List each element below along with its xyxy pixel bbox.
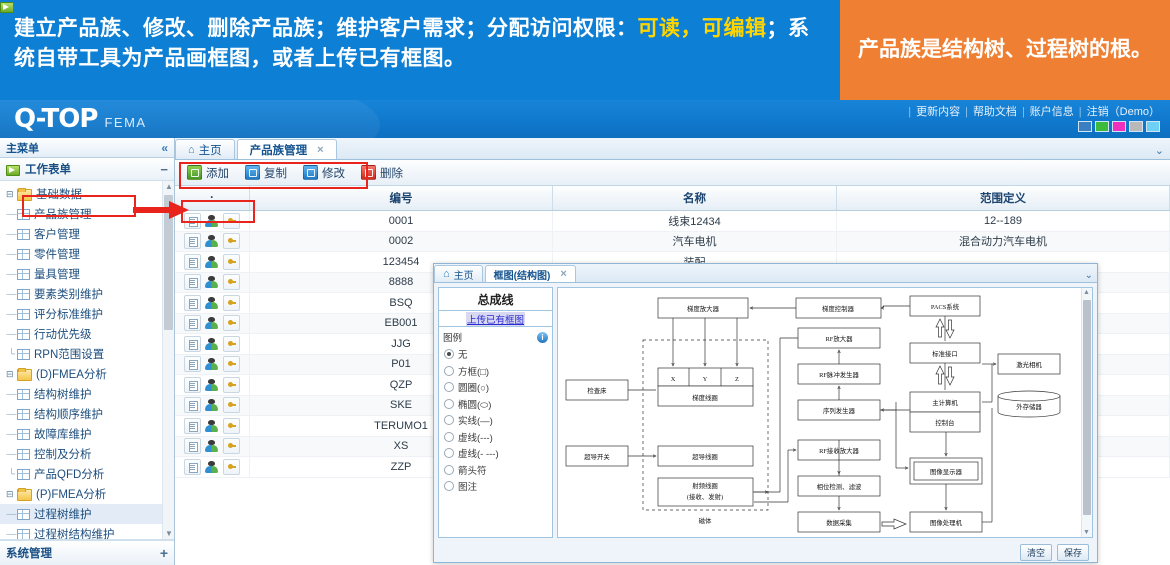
grid-icon: [17, 389, 30, 400]
sidebar-group-label: 工作表单: [25, 161, 71, 177]
user-icon[interactable]: [204, 316, 219, 330]
row-actions: [175, 416, 250, 437]
key-icon[interactable]: [223, 459, 240, 475]
legend-option-label: 椭圆(⬭): [458, 397, 491, 411]
key-icon[interactable]: [223, 274, 240, 290]
column-header-actions[interactable]: ·: [175, 186, 250, 211]
sidebar-folder-pfmea[interactable]: ⊟ (P)FMEA分析: [0, 484, 174, 504]
sidebar-item-label: 行动优先级: [34, 326, 92, 342]
grid-icon: [17, 229, 30, 240]
row-actions: [175, 272, 250, 293]
sidebar-item-label: (D)FMEA分析: [36, 366, 107, 382]
sidebar-title-bar: 主菜单 «: [0, 138, 174, 158]
svg-text:梯度线圈: 梯度线圈: [692, 393, 718, 402]
sidebar-item-label: 过程树维护: [34, 506, 92, 522]
legend-option-none[interactable]: 无: [444, 346, 552, 363]
theme-swatch-blue[interactable]: [1078, 121, 1092, 132]
radio-icon[interactable]: [444, 415, 454, 425]
radio-icon[interactable]: [444, 432, 454, 442]
sidebar-item-label: 过程树结构维护: [34, 526, 115, 540]
grid-icon: [17, 449, 30, 460]
sidebar-item-rpn-range[interactable]: └ RPN范围设置: [0, 344, 174, 364]
key-icon[interactable]: [223, 336, 240, 352]
app-logo: Q-TOP FEMA: [14, 104, 147, 134]
key-icon[interactable]: [223, 397, 240, 413]
legend-option-label: 虚线(- ---): [458, 446, 499, 460]
edit-button[interactable]: 修改: [297, 163, 351, 183]
svg-text:控制台: 控制台: [935, 418, 954, 427]
svg-text:X: X: [671, 376, 676, 383]
delete-label: 删除: [380, 165, 403, 181]
svg-text:图像显示器: 图像显示器: [930, 467, 963, 476]
sidebar-item-label: RPN范围设置: [34, 346, 104, 362]
sidebar-item-label: 故障库维护: [34, 426, 92, 442]
sidebar-item-action-priority[interactable]: — 行动优先级: [0, 324, 174, 344]
cell-name: 汽车电机: [553, 231, 837, 252]
expand-toggle-icon[interactable]: ⊟: [6, 369, 17, 380]
sidebar-item-product-family[interactable]: — 产品族管理: [0, 204, 174, 224]
user-icon[interactable]: [204, 234, 219, 248]
grid-icon: [17, 349, 30, 360]
svg-text:数据采集: 数据采集: [826, 518, 852, 527]
sidebar-folder-dfmea[interactable]: ⊟ (D)FMEA分析: [0, 364, 174, 384]
chevron-down-icon[interactable]: ⌄: [1155, 144, 1164, 157]
banner-text-part1: 建立产品族、修改、删除产品族；维护客户需求；分配访问权限：: [14, 17, 638, 40]
banner-text-highlight2: 可编辑: [702, 17, 767, 40]
cell-code: 0002: [250, 231, 553, 252]
tree-line: —: [6, 449, 17, 460]
sidebar-item-label: 基础数据: [36, 186, 82, 202]
annotation-banner: 建立产品族、修改、删除产品族；维护客户需求；分配访问权限：可读，可编辑；系统自带…: [0, 0, 1170, 100]
tree-line: —: [6, 309, 17, 320]
legend-option-rect[interactable]: 方框(□): [444, 363, 552, 380]
radio-icon[interactable]: [444, 481, 454, 491]
sidebar-collapse-icon[interactable]: «: [161, 141, 168, 155]
expand-toggle-icon[interactable]: ⊟: [6, 189, 17, 200]
upload-row: 上传已有框图: [439, 311, 552, 327]
doc-icon[interactable]: [184, 315, 201, 331]
user-icon[interactable]: [204, 214, 219, 228]
doc-icon[interactable]: [184, 213, 201, 229]
svg-text:主计算机: 主计算机: [932, 398, 958, 407]
sidebar-item-structure-order[interactable]: — 结构顺序维护: [0, 404, 174, 424]
grid-icon: [17, 329, 30, 340]
legend-option-dashdot-line[interactable]: 虚线(- ---): [444, 445, 552, 462]
cell-scope: 混合动力汽车电机: [837, 231, 1170, 252]
row-actions: [175, 293, 250, 314]
tree-line: —: [6, 209, 17, 220]
theme-swatch-green[interactable]: [1095, 121, 1109, 132]
close-icon[interactable]: ×: [317, 144, 323, 156]
sidebar-folder-basicdata[interactable]: ⊟ 基础数据: [0, 184, 174, 204]
row-actions: [175, 375, 250, 396]
legend-option-label: 虚线(---): [458, 430, 493, 444]
table-header-row: · 编号 名称 范围定义: [175, 186, 1170, 211]
svg-text:超导开关: 超导开关: [584, 452, 610, 461]
doc-icon[interactable]: [184, 233, 201, 249]
user-icon[interactable]: [204, 398, 219, 412]
grid-icon: [17, 469, 30, 480]
svg-text:梯度放大器: 梯度放大器: [687, 304, 720, 313]
clear-button[interactable]: 清空: [1020, 544, 1052, 561]
doc-icon[interactable]: [184, 459, 201, 475]
svg-text:RF脉冲发生器: RF脉冲发生器: [819, 370, 859, 379]
theme-swatch-pink[interactable]: [1112, 121, 1126, 132]
doc-icon[interactable]: [184, 274, 201, 290]
legend-option-label: 实线(—): [458, 413, 493, 427]
tree-line: —: [6, 329, 17, 340]
sidebar-item-label: 结构顺序维护: [34, 406, 103, 422]
add-icon: [187, 165, 202, 180]
key-icon[interactable]: [223, 438, 240, 454]
svg-text:图像处理机: 图像处理机: [930, 518, 963, 527]
folder-icon: [17, 488, 32, 500]
legend-option-solid-line[interactable]: 实线(—): [444, 412, 552, 429]
banner-text-highlight1: 可读，: [638, 17, 703, 40]
radio-icon[interactable]: [444, 448, 454, 458]
doc-icon[interactable]: [184, 377, 201, 393]
sidebar-item-label: 产品族管理: [34, 206, 92, 222]
tree-line: —: [6, 509, 17, 520]
link-separator: |: [965, 106, 968, 118]
svg-text:标准接口: 标准接口: [932, 349, 958, 358]
save-button[interactable]: 保存: [1057, 544, 1089, 561]
radio-icon[interactable]: [444, 349, 454, 359]
tree-line: —: [6, 249, 17, 260]
svg-text:PACS系统: PACS系统: [931, 302, 960, 311]
diagram-canvas[interactable]: 检查床 超导开关 XYZ 梯度线圈 超导线圈 射频线圈(接收、发射) 磁体 梯度…: [557, 287, 1093, 538]
sidebar-item-label: 零件管理: [34, 246, 80, 262]
add-button[interactable]: 添加: [181, 163, 235, 183]
table-row[interactable]: 0002 汽车电机 混合动力汽车电机: [175, 231, 1170, 252]
sidebar-footer-label: 系统管理: [6, 545, 52, 561]
legend-option-ellipse[interactable]: 椭圆(⬭): [444, 396, 552, 413]
sidebar-item-failure-library-d[interactable]: — 故障库维护: [0, 424, 174, 444]
cell-scope: 12--189: [837, 211, 1170, 232]
arrow-folder-icon: [6, 163, 20, 175]
banner-left-text: 建立产品族、修改、删除产品族；维护客户需求；分配访问权限：可读，可编辑；系统自带…: [0, 0, 840, 100]
row-actions: [175, 313, 250, 334]
sidebar-footer-toggle[interactable]: +: [160, 545, 168, 561]
sidebar-item-part[interactable]: — 零件管理: [0, 244, 174, 264]
row-actions: [175, 334, 250, 355]
table-row[interactable]: 0001 线束12434 12--189: [175, 211, 1170, 232]
user-icon[interactable]: [204, 439, 219, 453]
doc-icon[interactable]: [184, 336, 201, 352]
link-separator: |: [1022, 106, 1025, 118]
row-actions: [175, 354, 250, 375]
cell-code: 0001: [250, 211, 553, 232]
sidebar-scrollbar[interactable]: ▲ ▼: [162, 181, 174, 539]
legend-option-circle[interactable]: 圆圈(○): [444, 379, 552, 396]
edit-icon: [303, 165, 318, 180]
tab-label: 主页: [199, 142, 222, 158]
user-icon[interactable]: [204, 378, 219, 392]
scrollbar-thumb[interactable]: [164, 195, 173, 330]
key-icon[interactable]: [223, 233, 240, 249]
legend-option-label: 无: [458, 347, 468, 361]
svg-text:激光相机: 激光相机: [1016, 360, 1042, 369]
tree-line: —: [6, 289, 17, 300]
key-icon[interactable]: [223, 315, 240, 331]
svg-text:序列发生器: 序列发生器: [823, 406, 856, 415]
tree-line: —: [6, 269, 17, 280]
theme-swatches: [1078, 121, 1160, 132]
user-icon[interactable]: [204, 255, 219, 269]
radio-icon[interactable]: [444, 465, 454, 475]
user-icon[interactable]: [204, 460, 219, 474]
sidebar-item-label: 产品QFD分析: [34, 466, 104, 482]
svg-text:射频线圈: 射频线圈: [692, 481, 718, 490]
scrollbar-thumb[interactable]: [1083, 300, 1091, 515]
inner-body: 总成线 上传已有框图 图例 i 无 方框(□) 圆圈(○) 椭圆(⬭) 实线(—…: [434, 283, 1097, 542]
user-icon[interactable]: [204, 357, 219, 371]
svg-text:检查床: 检查床: [587, 386, 607, 395]
add-label: 添加: [206, 165, 229, 181]
copy-button[interactable]: 复制: [239, 163, 293, 183]
legend-section-label: 图例: [443, 330, 462, 344]
legend-options: 无 方框(□) 圆圈(○) 椭圆(⬭) 实线(—) 虚线(---) 虚线(- -…: [439, 345, 552, 537]
row-actions: [175, 211, 250, 232]
key-icon[interactable]: [223, 418, 240, 434]
delete-button[interactable]: 删除: [355, 163, 409, 183]
scroll-up-icon[interactable]: ▲: [1083, 289, 1090, 296]
doc-icon[interactable]: [184, 397, 201, 413]
user-icon[interactable]: [204, 337, 219, 351]
grid-icon: [17, 289, 30, 300]
column-header-code[interactable]: 编号: [250, 186, 553, 211]
sidebar-item-score-standard[interactable]: — 评分标准维护: [0, 304, 174, 324]
svg-text:磁体: 磁体: [699, 516, 712, 525]
logo-subtext: FEMA: [104, 115, 146, 130]
inner-tabbar: ⌂ 主页 框图(结构图) × ⌄: [434, 264, 1097, 283]
column-header-name[interactable]: 名称: [553, 186, 837, 211]
sidebar-item-label: 量具管理: [34, 266, 80, 282]
legend-section-head: 图例 i: [439, 327, 552, 345]
user-icon[interactable]: [204, 296, 219, 310]
legend-panel: 总成线 上传已有框图 图例 i 无 方框(□) 圆圈(○) 椭圆(⬭) 实线(—…: [438, 287, 553, 538]
doc-icon[interactable]: [184, 418, 201, 434]
column-header-scope[interactable]: 范围定义: [837, 186, 1170, 211]
sidebar-title: 主菜单: [6, 140, 39, 156]
delete-icon: [361, 165, 376, 180]
sidebar-item-process-tree[interactable]: — 过程树维护: [0, 504, 174, 524]
inner-tab-home[interactable]: ⌂ 主页: [434, 265, 483, 282]
grid-icon: [17, 269, 30, 280]
info-icon[interactable]: i: [537, 332, 548, 343]
sidebar-item-process-tree-structure[interactable]: — 过程树结构维护: [0, 524, 174, 540]
inner-tab-label: 框图(结构图): [494, 267, 551, 282]
sidebar-item-gauge[interactable]: — 量具管理: [0, 264, 174, 284]
row-actions: [175, 457, 250, 478]
legend-option-note[interactable]: 图注: [444, 478, 552, 495]
cell-name: 线束12434: [553, 211, 837, 232]
block-diagram-window: ⌂ 主页 框图(结构图) × ⌄ 总成线 上传已有框图 图例 i: [433, 263, 1098, 563]
link-separator: |: [1079, 106, 1082, 118]
mri-block-diagram: 检查床 超导开关 XYZ 梯度线圈 超导线圈 射频线圈(接收、发射) 磁体 梯度…: [558, 288, 1078, 538]
radio-icon[interactable]: [444, 366, 454, 376]
legend-option-label: 图注: [458, 479, 477, 493]
sidebar-item-structure-tree[interactable]: — 结构树维护: [0, 384, 174, 404]
key-icon[interactable]: [223, 213, 240, 229]
copy-icon: [245, 165, 260, 180]
sidebar-tree: ⊟ 基础数据 — 产品族管理 — 客户管理: [0, 181, 174, 540]
theme-swatch-gray[interactable]: [1129, 121, 1143, 132]
grid-icon: [17, 309, 30, 320]
radio-icon[interactable]: [444, 399, 454, 409]
sidebar-item-label: 评分标准维护: [34, 306, 103, 322]
sidebar-tree-wrapper: ⊟ 基础数据 — 产品族管理 — 客户管理: [0, 181, 174, 540]
scroll-down-icon[interactable]: ▼: [1083, 529, 1090, 536]
tab-label: 产品族管理: [250, 142, 308, 158]
app-header: Q-TOP FEMA |更新内容|帮助文档|账户信息|注销（Demo）: [0, 100, 1170, 138]
sidebar-item-label: 要素类别维护: [34, 286, 103, 302]
svg-text:(接收、发射): (接收、发射): [687, 492, 723, 501]
svg-text:RF放大器: RF放大器: [826, 334, 854, 343]
svg-text:外存储器: 外存储器: [1016, 402, 1042, 411]
legend-option-label: 箭头符: [458, 463, 487, 477]
tab-home[interactable]: ⌂ 主页: [175, 139, 235, 159]
main-tabbar: ⌂ 主页 产品族管理 × ⌄: [175, 138, 1170, 160]
key-icon[interactable]: [223, 356, 240, 372]
key-icon[interactable]: [223, 295, 240, 311]
sidebar-item-label: 结构树维护: [34, 386, 92, 402]
tree-line: —: [6, 429, 17, 440]
user-icon[interactable]: [204, 275, 219, 289]
scroll-down-icon[interactable]: ▼: [165, 529, 173, 538]
doc-icon[interactable]: [184, 356, 201, 372]
grid-icon: [17, 529, 30, 540]
grid-icon: [17, 209, 30, 220]
home-icon: ⌂: [188, 144, 195, 156]
sidebar-item-customer[interactable]: — 客户管理: [0, 224, 174, 244]
header-links: |更新内容|帮助文档|账户信息|注销（Demo）: [903, 103, 1160, 119]
legend-option-label: 方框(□): [458, 364, 489, 378]
grid-toolbar: 添加 复制 修改 删除: [175, 160, 1170, 186]
link-separator: |: [908, 106, 911, 118]
edit-label: 修改: [322, 165, 345, 181]
key-icon[interactable]: [223, 254, 240, 270]
app-root: 建立产品族、修改、删除产品族；维护客户需求；分配访问权限：可读，可编辑；系统自带…: [0, 0, 1170, 565]
sidebar-item-label: (P)FMEA分析: [36, 486, 106, 502]
copy-label: 复制: [264, 165, 287, 181]
header-link-updates[interactable]: 更新内容: [916, 106, 960, 118]
tab-product-family[interactable]: 产品族管理 ×: [237, 139, 337, 159]
expand-toggle-icon[interactable]: ⊟: [6, 489, 17, 500]
svg-text:相位检测、滤波: 相位检测、滤波: [817, 482, 862, 491]
svg-text:Z: Z: [735, 376, 739, 383]
row-actions: [175, 436, 250, 457]
header-link-logout[interactable]: 注销（Demo）: [1087, 106, 1160, 118]
chevron-down-icon[interactable]: ⌄: [1085, 270, 1093, 281]
grid-icon: [17, 249, 30, 260]
row-actions: [175, 252, 250, 273]
scroll-up-icon[interactable]: ▲: [165, 182, 173, 191]
key-icon[interactable]: [223, 377, 240, 393]
grid-icon: [17, 409, 30, 420]
legend-title: 总成线: [439, 288, 552, 311]
tree-line: —: [6, 529, 17, 540]
legend-option-dashed-line[interactable]: 虚线(---): [444, 429, 552, 446]
grid-icon: [17, 509, 30, 520]
tree-line: └: [6, 469, 17, 480]
canvas-scrollbar[interactable]: ▲ ▼: [1081, 288, 1092, 537]
tree-line: └: [6, 349, 17, 360]
upload-existing-diagram-link[interactable]: 上传已有框图: [466, 312, 525, 326]
tree-line: —: [6, 229, 17, 240]
home-icon: ⌂: [443, 268, 450, 280]
sidebar-item-product-qfd[interactable]: └ 产品QFD分析: [0, 464, 174, 484]
doc-icon[interactable]: [184, 438, 201, 454]
tree-line: —: [6, 409, 17, 420]
header-link-account[interactable]: 账户信息: [1030, 106, 1074, 118]
sidebar-item-element-category[interactable]: — 要素类别维护: [0, 284, 174, 304]
svg-text:梯度控制器: 梯度控制器: [822, 304, 855, 313]
legend-option-arrow[interactable]: 箭头符: [444, 462, 552, 479]
row-actions: [175, 395, 250, 416]
folder-icon: [17, 188, 32, 200]
tree-line: —: [6, 389, 17, 400]
inner-footer: 清空 保存: [434, 542, 1097, 562]
header-link-help[interactable]: 帮助文档: [973, 106, 1017, 118]
theme-swatch-cyan[interactable]: [1146, 121, 1160, 132]
sidebar-group-system[interactable]: 系统管理 +: [0, 540, 174, 565]
row-actions: [175, 231, 250, 252]
user-icon[interactable]: [204, 419, 219, 433]
svg-text:超导线圈: 超导线圈: [692, 452, 718, 461]
sidebar-item-label: 客户管理: [34, 226, 80, 242]
sidebar-group-worksheet[interactable]: 工作表单 −: [0, 158, 174, 181]
sidebar-item-label: 控制及分析: [34, 446, 92, 462]
sidebar-group-toggle[interactable]: −: [160, 162, 168, 177]
logo-text: Q-TOP: [14, 104, 97, 134]
sidebar-item-control-analysis[interactable]: — 控制及分析: [0, 444, 174, 464]
svg-text:Y: Y: [703, 376, 708, 383]
doc-icon[interactable]: [184, 254, 201, 270]
close-icon[interactable]: ×: [560, 268, 566, 280]
doc-icon[interactable]: [184, 295, 201, 311]
folder-icon: [17, 368, 32, 380]
legend-option-label: 圆圈(○): [458, 380, 489, 394]
radio-icon[interactable]: [444, 382, 454, 392]
grid-icon: [17, 429, 30, 440]
inner-tab-block-diagram[interactable]: 框图(结构图) ×: [485, 265, 576, 282]
inner-tab-label: 主页: [454, 267, 474, 282]
banner-right-text: 产品族是结构树、过程树的根。: [840, 0, 1170, 100]
sidebar: 主菜单 « 工作表单 − ⊟ 基础数据 —: [0, 138, 175, 565]
